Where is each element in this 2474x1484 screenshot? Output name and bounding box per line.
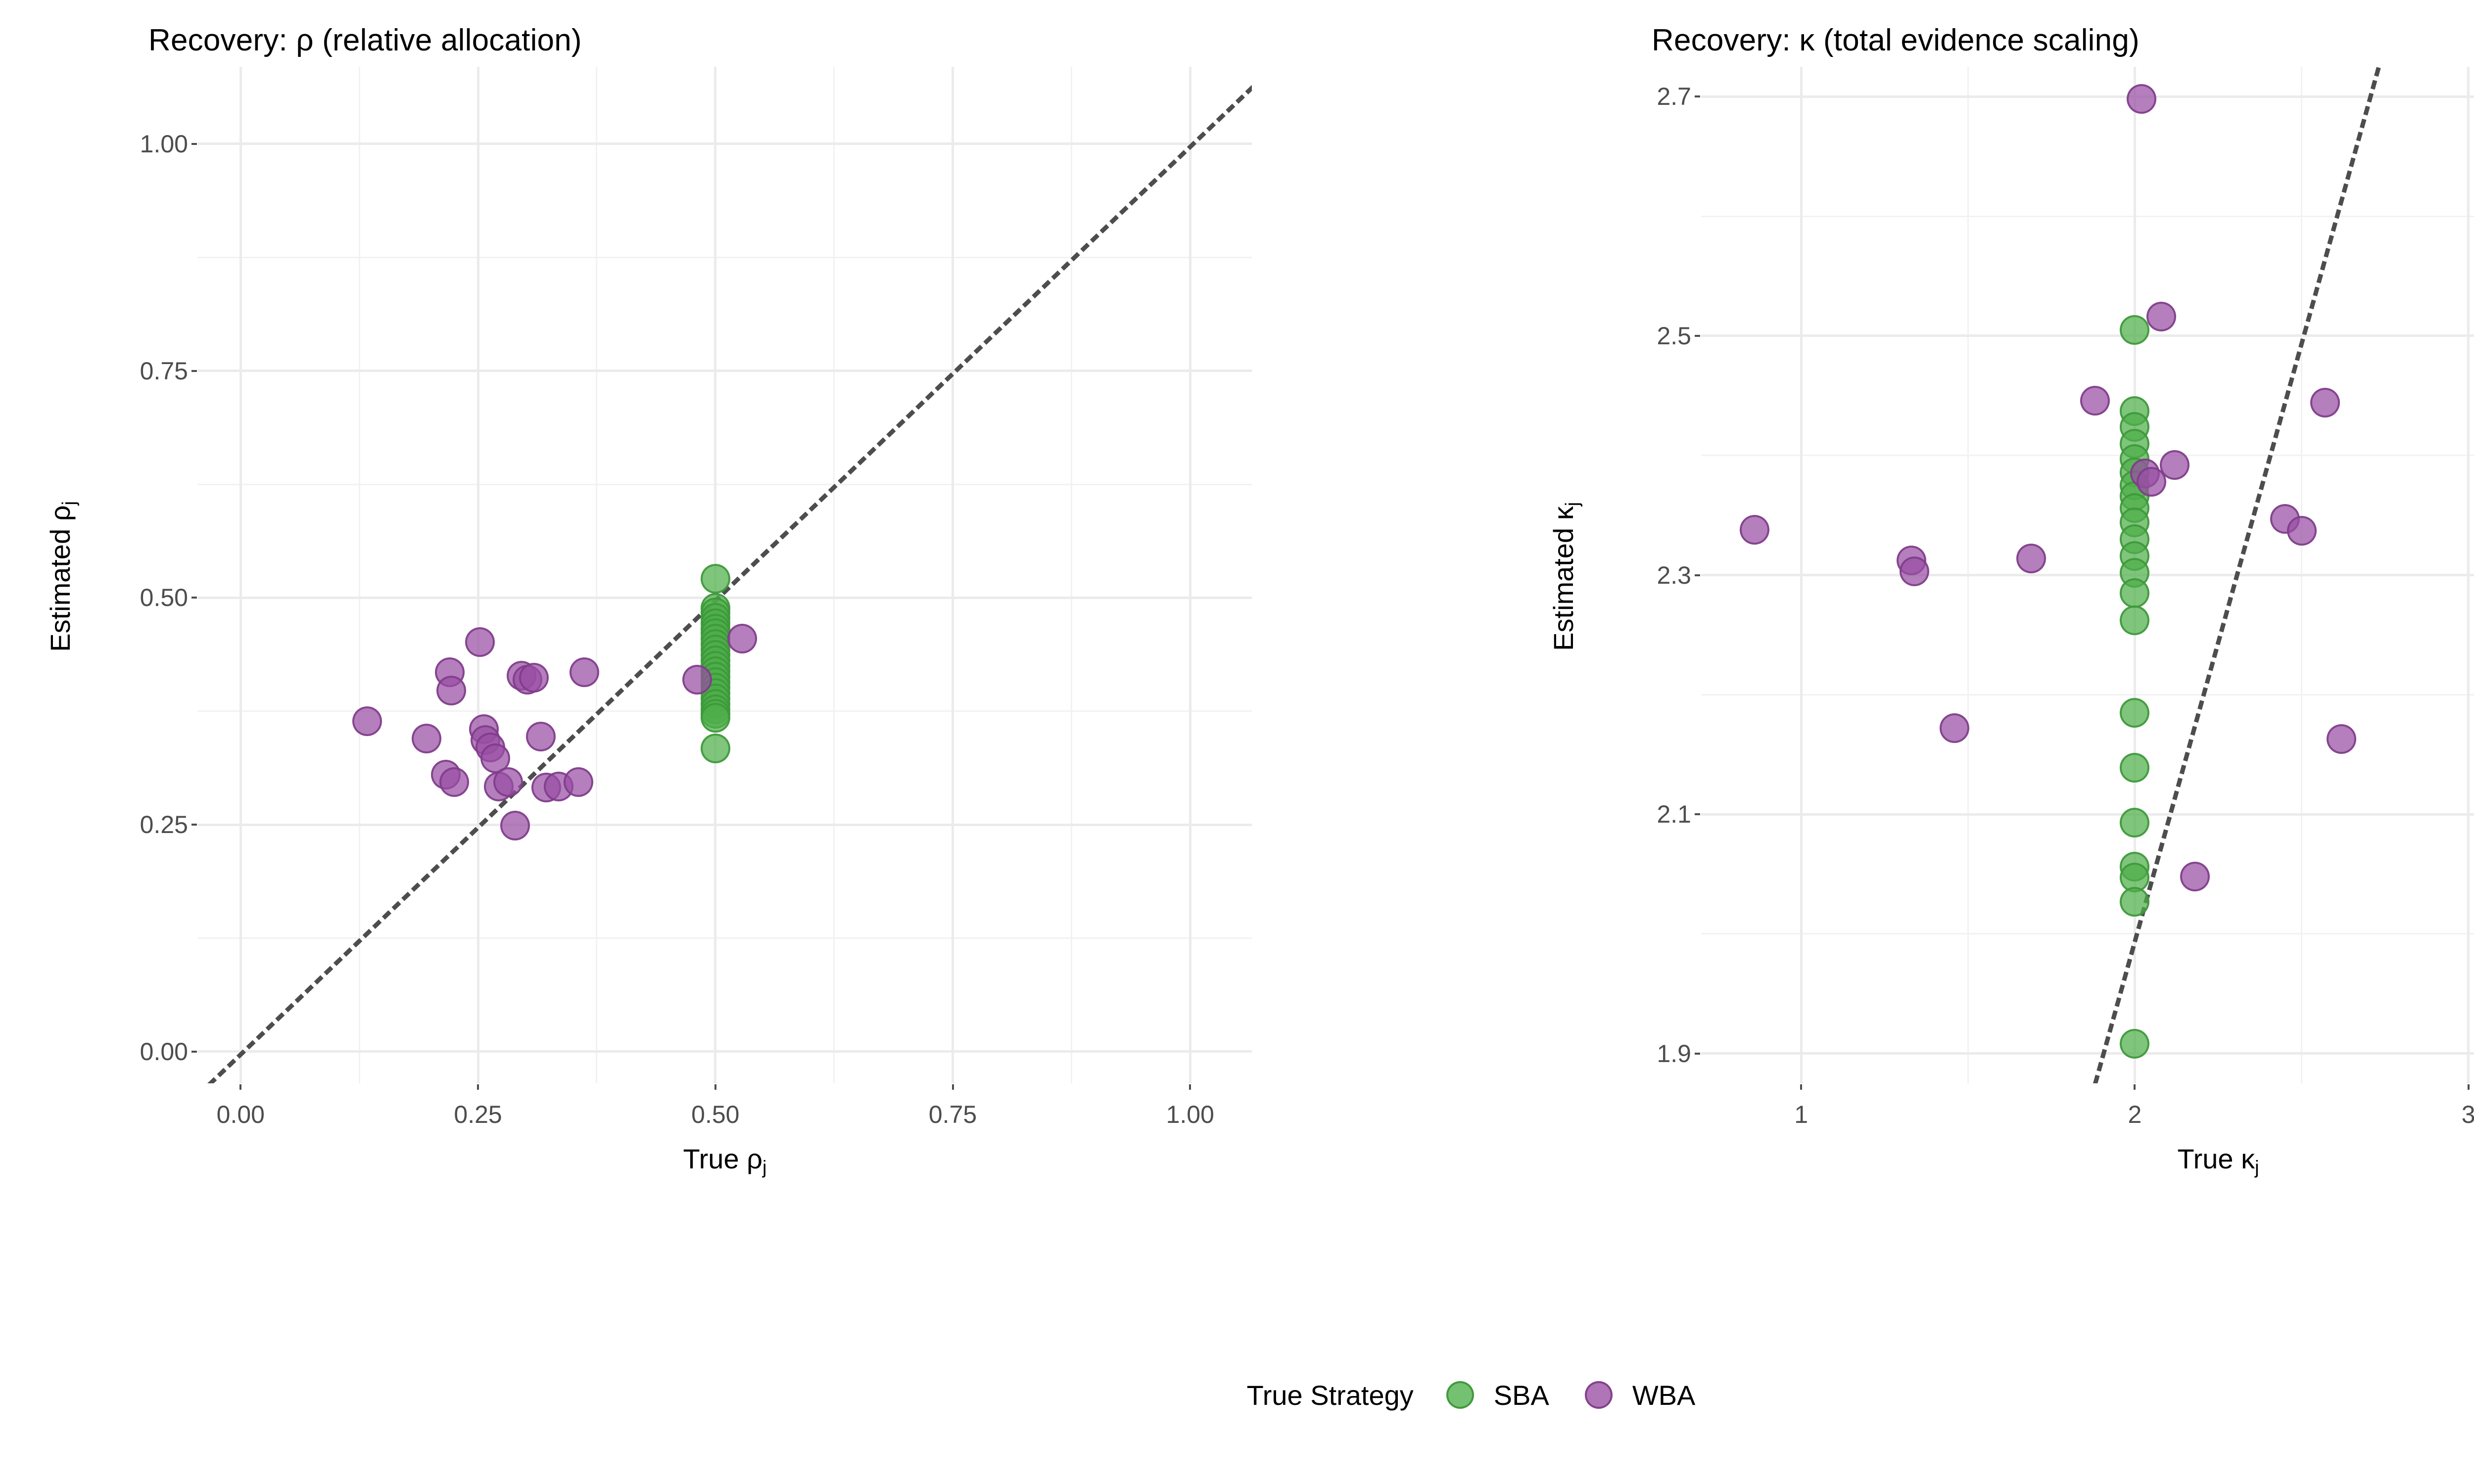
legend-title: True Strategy xyxy=(1247,1379,1414,1411)
panel-rho: Recovery: ρ (relative allocation) 0.000.… xyxy=(0,0,1484,1336)
gridline-major-horizontal xyxy=(1701,1052,2474,1055)
recovery-scatter-figure: Recovery: ρ (relative allocation) 0.000.… xyxy=(0,0,2474,1484)
panel-kappa-title: Recovery: κ (total evidence scaling) xyxy=(1652,23,2140,58)
data-point-wba xyxy=(519,663,549,693)
y-axis-tick-mark xyxy=(191,143,197,145)
gridline-major-horizontal xyxy=(198,370,1252,372)
gridline-major-horizontal xyxy=(198,1050,1252,1053)
x-axis-tick-mark xyxy=(1189,1084,1191,1090)
x-axis-tick-mark xyxy=(714,1084,716,1090)
gridline-minor-horizontal xyxy=(1701,216,2474,217)
legend-key-wba xyxy=(1576,1372,1621,1418)
data-point-sba xyxy=(701,734,730,763)
gridline-major-horizontal xyxy=(1701,813,2474,816)
y-axis-tick-mark xyxy=(191,1051,197,1053)
gridline-minor-horizontal xyxy=(198,257,1252,258)
y-axis-tick-label: 2.3 xyxy=(1627,561,1691,590)
y-axis-tick-label: 1.00 xyxy=(124,130,188,158)
panel-kappa-x-axis-title-sub: j xyxy=(2255,1158,2259,1178)
data-point-wba xyxy=(465,627,495,657)
panel-rho-x-axis-title: True ρj xyxy=(198,1143,1252,1179)
x-axis-tick-label: 3 xyxy=(2462,1100,2474,1129)
data-point-wba xyxy=(2160,450,2189,480)
panel-kappa-y-axis-title-sub: j xyxy=(1562,502,1582,506)
gridline-major-vertical xyxy=(477,67,479,1083)
data-point-wba xyxy=(2310,388,2340,417)
x-axis-tick-label: 2 xyxy=(2128,1100,2142,1129)
panel-rho-x-axis-title-sub: j xyxy=(762,1158,766,1178)
y-axis-tick-mark xyxy=(1695,335,1700,337)
panel-kappa-x-axis-title-text: True κ xyxy=(2177,1143,2255,1174)
panel-kappa: Recovery: κ (total evidence scaling) 1.9… xyxy=(1484,0,2474,1336)
panel-kappa-y-axis-title-text: Estimated κ xyxy=(1548,506,1579,651)
y-axis-tick-label: 0.50 xyxy=(124,583,188,612)
gridline-major-horizontal xyxy=(1701,95,2474,98)
panel-rho-plot-area xyxy=(198,67,1252,1083)
x-axis-tick-label: 1 xyxy=(1794,1100,1808,1129)
gridline-minor-horizontal xyxy=(1701,933,2474,934)
data-point-wba xyxy=(500,811,530,840)
panel-kappa-x-axis-title: True κj xyxy=(1701,1143,2474,1179)
legend-item-sba[interactable]: SBA xyxy=(1437,1372,1549,1418)
data-point-sba xyxy=(2120,887,2149,917)
legend-dot-sba-icon xyxy=(1446,1381,1474,1409)
data-point-sba xyxy=(2120,578,2149,608)
x-axis-tick-mark xyxy=(239,1084,241,1090)
gridline-major-vertical xyxy=(952,67,954,1083)
data-point-sba xyxy=(2120,808,2149,837)
data-point-wba xyxy=(439,767,469,797)
data-point-wba xyxy=(2287,516,2317,546)
data-point-sba xyxy=(2120,753,2149,783)
data-point-sba xyxy=(701,564,730,594)
legend-dot-wba-icon xyxy=(1585,1381,1613,1409)
identity-reference-line xyxy=(207,85,1252,1083)
panel-kappa-y-axis-title: Estimated κj xyxy=(1547,68,1583,1084)
x-axis-tick-label: 1.00 xyxy=(1166,1100,1214,1129)
data-point-sba xyxy=(2120,605,2149,635)
gridline-major-horizontal xyxy=(198,142,1252,145)
data-point-wba xyxy=(436,676,466,705)
x-axis-tick-label: 0.25 xyxy=(454,1100,502,1129)
y-axis-tick-label: 1.9 xyxy=(1627,1039,1691,1068)
x-axis-tick-label: 0.75 xyxy=(929,1100,977,1129)
data-point-wba xyxy=(2146,302,2176,331)
legend-label-wba: WBA xyxy=(1632,1379,1696,1411)
panel-rho-x-axis-title-text: True ρ xyxy=(683,1143,762,1174)
data-point-wba xyxy=(412,724,441,753)
panel-rho-y-axis-title-sub: j xyxy=(58,501,79,505)
x-axis-tick-mark xyxy=(1800,1084,1802,1090)
data-point-sba xyxy=(2120,698,2149,728)
gridline-minor-vertical xyxy=(833,67,835,1083)
legend-item-wba[interactable]: WBA xyxy=(1576,1372,1696,1418)
y-axis-tick-mark xyxy=(1695,1053,1700,1055)
legend-key-sba xyxy=(1437,1372,1483,1418)
panel-rho-y-axis-title: Estimated ρj xyxy=(44,68,80,1084)
data-point-wba xyxy=(2016,544,2046,573)
y-axis-tick-label: 2.7 xyxy=(1627,82,1691,111)
data-point-wba xyxy=(352,706,382,736)
data-point-wba xyxy=(1940,713,1969,743)
x-axis-tick-mark xyxy=(2468,1084,2470,1090)
gridline-minor-vertical xyxy=(596,67,597,1083)
data-point-sba xyxy=(2120,315,2149,345)
data-point-wba xyxy=(526,722,556,751)
x-axis-tick-mark xyxy=(477,1084,479,1090)
y-axis-tick-mark xyxy=(191,824,197,826)
y-axis-tick-label: 0.00 xyxy=(124,1037,188,1066)
data-point-wba xyxy=(2127,84,2156,114)
gridline-major-vertical xyxy=(239,67,242,1083)
data-point-wba xyxy=(727,624,757,653)
y-axis-tick-label: 2.5 xyxy=(1627,322,1691,350)
gridline-minor-horizontal xyxy=(198,484,1252,485)
y-axis-tick-label: 0.75 xyxy=(124,357,188,385)
legend-label-sba: SBA xyxy=(1494,1379,1549,1411)
gridline-minor-horizontal xyxy=(1701,694,2474,696)
y-axis-tick-mark xyxy=(1695,95,1700,97)
y-axis-tick-label: 0.25 xyxy=(124,810,188,839)
gridline-major-horizontal xyxy=(1701,574,2474,576)
panel-rho-title: Recovery: ρ (relative allocation) xyxy=(148,23,582,58)
x-axis-tick-label: 0.00 xyxy=(217,1100,265,1129)
y-axis-tick-mark xyxy=(1695,813,1700,815)
x-axis-tick-mark xyxy=(2134,1084,2136,1090)
legend: True Strategy SBA WBA xyxy=(0,1365,2474,1425)
panel-rho-y-axis-title-text: Estimated ρ xyxy=(45,505,76,651)
data-point-wba xyxy=(2180,862,2210,891)
data-point-wba xyxy=(2080,386,2110,416)
data-point-wba xyxy=(564,767,593,797)
panel-kappa-plot-area xyxy=(1701,67,2474,1083)
gridline-minor-horizontal xyxy=(198,937,1252,939)
y-axis-tick-mark xyxy=(1695,574,1700,576)
gridline-minor-vertical xyxy=(1071,67,1072,1083)
y-axis-tick-mark xyxy=(191,370,197,372)
x-axis-tick-label: 0.50 xyxy=(691,1100,739,1129)
y-axis-tick-mark xyxy=(191,597,197,599)
gridline-major-horizontal xyxy=(1701,334,2474,337)
gridline-major-vertical xyxy=(1189,67,1191,1083)
data-point-wba xyxy=(1740,515,1769,545)
data-point-wba xyxy=(570,657,599,687)
x-axis-tick-mark xyxy=(952,1084,954,1090)
data-point-sba xyxy=(701,703,730,733)
data-point-wba xyxy=(2327,724,2356,754)
data-point-wba xyxy=(1900,556,1929,586)
gridline-major-vertical xyxy=(1800,67,1803,1083)
data-point-wba xyxy=(493,767,523,797)
data-point-wba xyxy=(682,665,712,695)
gridline-minor-horizontal xyxy=(1701,455,2474,456)
gridline-major-horizontal xyxy=(198,824,1252,826)
y-axis-tick-label: 2.1 xyxy=(1627,800,1691,829)
gridline-major-vertical xyxy=(2467,67,2470,1083)
gridline-minor-vertical xyxy=(359,67,360,1083)
